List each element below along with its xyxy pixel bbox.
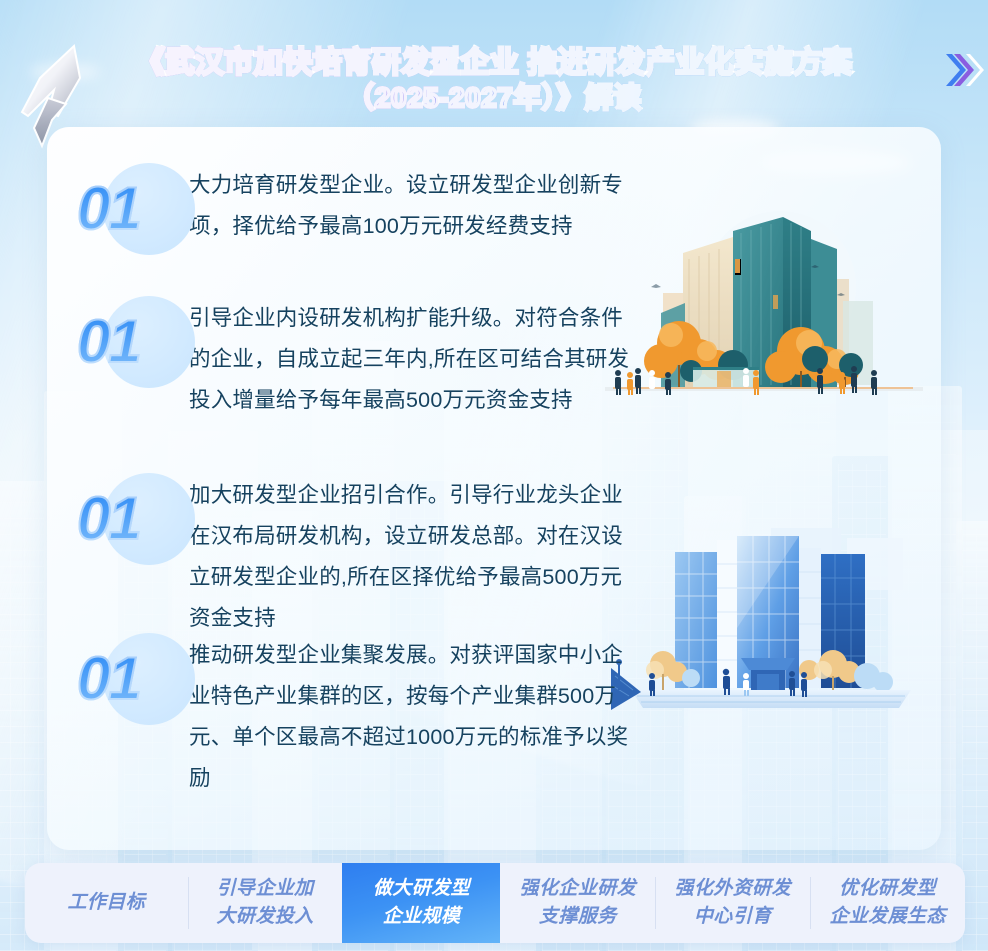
- title-line-1: 《武汉市加快培育研发型企业 推进研发产业化实施方案: [136, 46, 853, 81]
- tab-label-line1: 工作目标: [68, 889, 146, 917]
- item-number-badge: 01: [77, 157, 189, 261]
- office-building-illustration: [605, 175, 923, 425]
- item-number-badge: 01: [77, 627, 189, 731]
- tab-label-line1: 引导企业加: [217, 875, 314, 903]
- title-line-2: （2025-2027年）》解读: [346, 81, 641, 115]
- tab-label-line2: 支撑服务: [539, 903, 617, 931]
- tab-label-line2: 中心引育: [694, 903, 772, 931]
- tab-label-line2: 企业发展生态: [829, 903, 945, 931]
- item-text: 推动研发型企业集聚发展。对获评国家中小企业特色产业集群的区，按每个产业集群500…: [189, 627, 641, 799]
- tab-label-line1: 强化外资研发: [675, 875, 791, 903]
- tab-foreign-rd-centers[interactable]: 强化外资研发 中心引育: [655, 863, 810, 943]
- glass-towers-illustration: [611, 518, 931, 738]
- tab-strengthen-rd-support[interactable]: 强化企业研发 支撑服务: [500, 863, 655, 943]
- poster-title: 《武汉市加快培育研发型企业 推进研发产业化实施方案 （2025-2027年）》解…: [0, 46, 988, 116]
- tab-label-line1: 优化研发型: [839, 875, 936, 903]
- item-number-badge: 01: [77, 467, 189, 571]
- item-text: 引导企业内设研发机构扩能升级。对符合条件的企业，自成立起三年内,所在区可结合其研…: [189, 290, 641, 421]
- section-tab-bar: 工作目标 引导企业加 大研发投入 做大研发型 企业规模 强化企业研发 支撑服务 …: [25, 863, 965, 943]
- tab-label-line2: 大研发投入: [217, 903, 314, 931]
- badge-number: 01: [77, 649, 140, 709]
- tab-optimize-rd-ecosystem[interactable]: 优化研发型 企业发展生态: [810, 863, 965, 943]
- tab-label-line1: 强化企业研发: [520, 875, 636, 903]
- content-card: 01 大力培育研发型企业。设立研发型企业创新专项，择优给予最高100万元研发经费…: [47, 127, 941, 850]
- list-item: 01 推动研发型企业集聚发展。对获评国家中小企业特色产业集群的区，按每个产业集群…: [77, 627, 641, 799]
- list-item: 01 大力培育研发型企业。设立研发型企业创新专项，择优给予最高100万元研发经费…: [77, 157, 641, 261]
- badge-number: 01: [77, 312, 140, 372]
- list-item: 01 引导企业内设研发机构扩能升级。对符合条件的企业，自成立起三年内,所在区可结…: [77, 290, 641, 421]
- tab-label-line1: 做大研发型: [373, 875, 470, 903]
- tab-expand-rd-enterprise-scale[interactable]: 做大研发型 企业规模: [342, 863, 500, 943]
- item-text: 大力培育研发型企业。设立研发型企业创新专项，择优给予最高100万元研发经费支持: [189, 157, 641, 247]
- badge-number: 01: [77, 489, 140, 549]
- item-number-badge: 01: [77, 290, 189, 394]
- tab-work-goals[interactable]: 工作目标: [25, 863, 188, 943]
- list-item: 01 加大研发型企业招引合作。引导行业龙头企业在汉布局研发机构，设立研发总部。对…: [77, 467, 641, 639]
- tab-guide-rd-investment[interactable]: 引导企业加 大研发投入: [188, 863, 343, 943]
- tab-label-line2: 企业规模: [383, 903, 461, 931]
- poster-root: 《武汉市加快培育研发型企业 推进研发产业化实施方案 （2025-2027年）》解…: [0, 0, 988, 951]
- item-text: 加大研发型企业招引合作。引导行业龙头企业在汉布局研发机构，设立研发总部。对在汉设…: [189, 467, 641, 639]
- badge-number: 01: [77, 179, 140, 239]
